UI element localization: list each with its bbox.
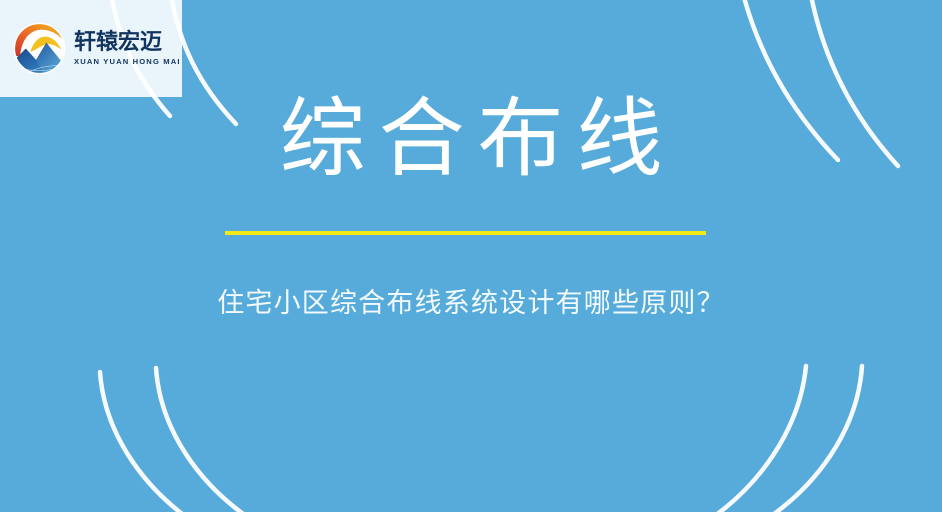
- title-underline-rule: [225, 231, 706, 235]
- page-subtitle: 住宅小区综合布线系统设计有哪些原则？: [0, 281, 942, 320]
- page-title: 综合布线: [0, 96, 942, 184]
- article-banner: 轩辕宏迈 XUAN YUAN HONG MAI 综合布线 住宅小区综合布线系统设…: [0, 0, 942, 512]
- hero-text-block: 综合布线 住宅小区综合布线系统设计有哪些原则？: [0, 0, 942, 512]
